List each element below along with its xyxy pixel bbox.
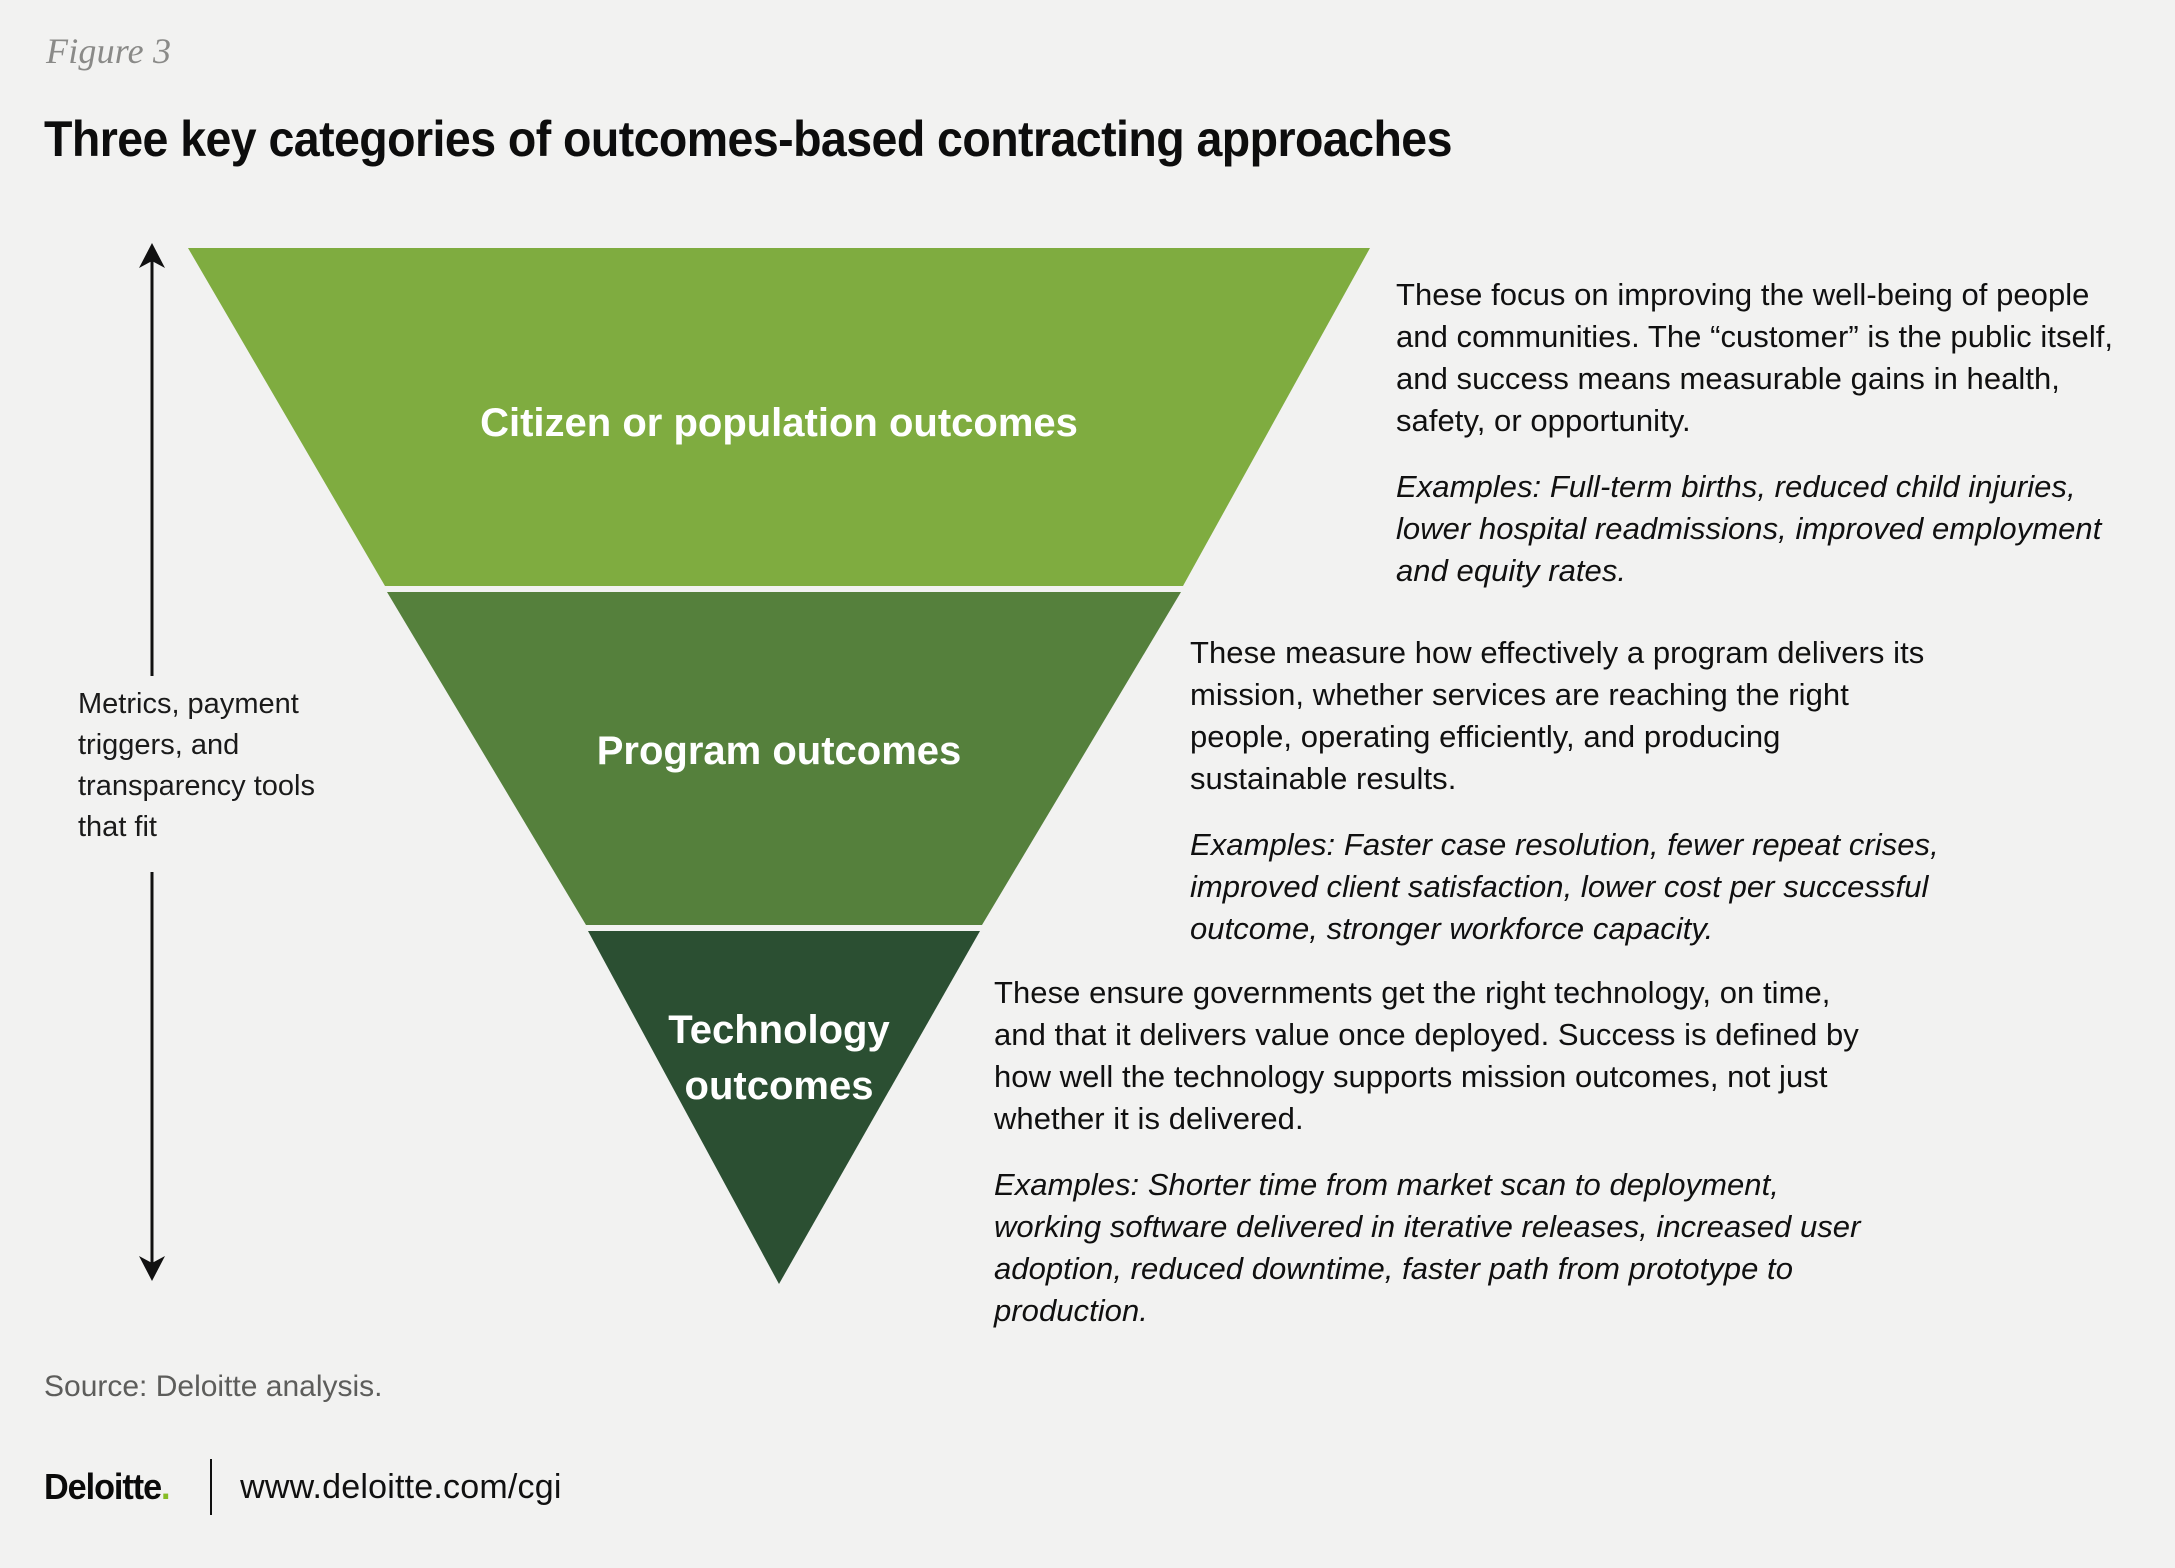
description-program-examples: Examples: Faster case resolution, fewer … — [1190, 824, 1940, 950]
deloitte-logo: Deloitte. — [44, 1466, 170, 1508]
funnel-segment-program-label: Program outcomes — [597, 729, 962, 773]
axis-note: Metrics, payment triggers, and transpare… — [78, 684, 318, 848]
description-citizen-body: These focus on improving the well-being … — [1396, 274, 2146, 442]
description-technology-examples: Examples: Shorter time from market scan … — [994, 1164, 1864, 1332]
funnel-segment-technology-label-line1: Technology — [668, 1008, 890, 1052]
description-program: These measure how effectively a program … — [1190, 632, 1940, 950]
funnel-segment-citizen[interactable]: Citizen or population outcomes — [188, 248, 1370, 586]
description-citizen: These focus on improving the well-being … — [1396, 274, 2146, 592]
description-program-body: These measure how effectively a program … — [1190, 632, 1940, 800]
source-note: Source: Deloitte analysis. — [44, 1370, 383, 1404]
description-technology-body: These ensure governments get the right t… — [994, 972, 1864, 1140]
funnel-segment-technology[interactable]: Technology outcomes — [588, 931, 980, 1284]
description-technology: These ensure governments get the right t… — [994, 972, 1864, 1332]
footer-url[interactable]: www.deloitte.com/cgi — [240, 1468, 561, 1507]
funnel-segment-citizen-label: Citizen or population outcomes — [480, 401, 1078, 445]
footer-bar: Deloitte. www.deloitte.com/cgi — [44, 1460, 562, 1514]
deloitte-logo-text: Deloitte — [44, 1466, 161, 1507]
footer-divider — [210, 1459, 212, 1515]
deloitte-logo-dot: . — [161, 1466, 169, 1507]
description-citizen-examples: Examples: Full-term births, reduced chil… — [1396, 466, 2146, 592]
funnel-segment-technology-label-line2: outcomes — [685, 1064, 874, 1108]
funnel-segment-program[interactable]: Program outcomes — [387, 592, 1181, 925]
